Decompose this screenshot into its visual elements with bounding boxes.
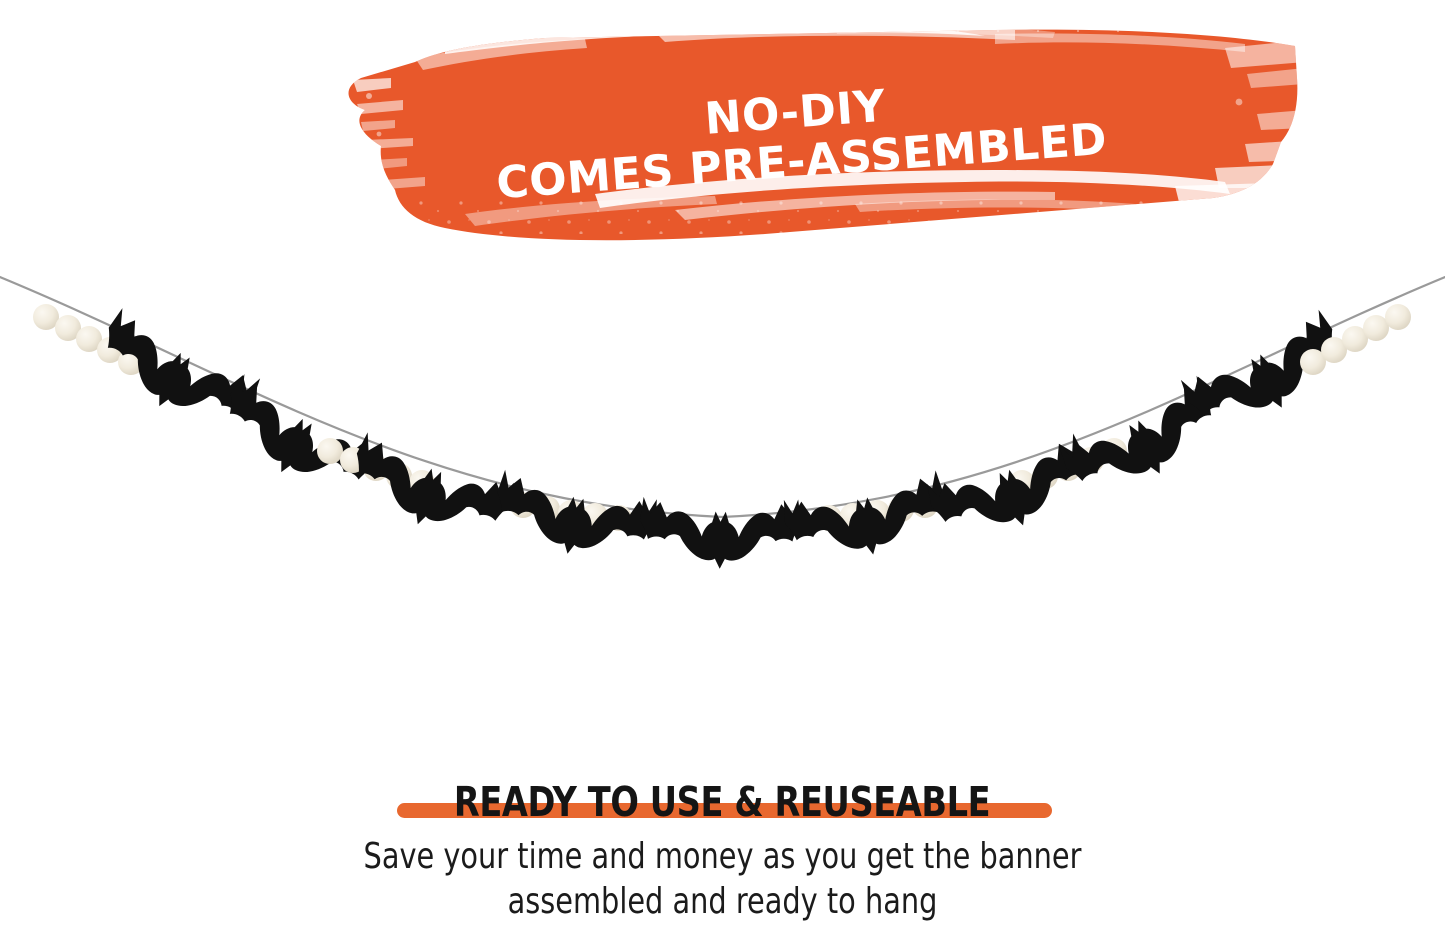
product-infographic-page: NO-DIY COMES PRE-ASSEMBLED <box>0 0 1445 948</box>
bat-shape <box>924 432 1099 551</box>
no-diy-banner: NO-DIY COMES PRE-ASSEMBLED <box>295 18 1305 258</box>
footer-headline: READY TO USE & REUSEABLE <box>454 780 990 824</box>
footer-subtitle: Save your time and money as you get the … <box>145 835 1301 924</box>
bat-shape <box>1178 308 1354 444</box>
bat-shape <box>209 373 385 509</box>
garland-illustration-icon <box>0 255 1445 615</box>
bat-shape <box>488 469 660 569</box>
bat-shape <box>87 307 263 443</box>
footer-text-block: READY TO USE & REUSEABLE Save your time … <box>0 780 1445 925</box>
headline-wrapper: READY TO USE & REUSEABLE <box>391 780 1053 824</box>
orange-brush-stroke-icon <box>295 18 1305 258</box>
bat-shape <box>342 431 517 550</box>
bat-shape <box>781 470 953 570</box>
bat-bead-garland <box>0 255 1445 615</box>
bat-shape <box>639 497 801 570</box>
